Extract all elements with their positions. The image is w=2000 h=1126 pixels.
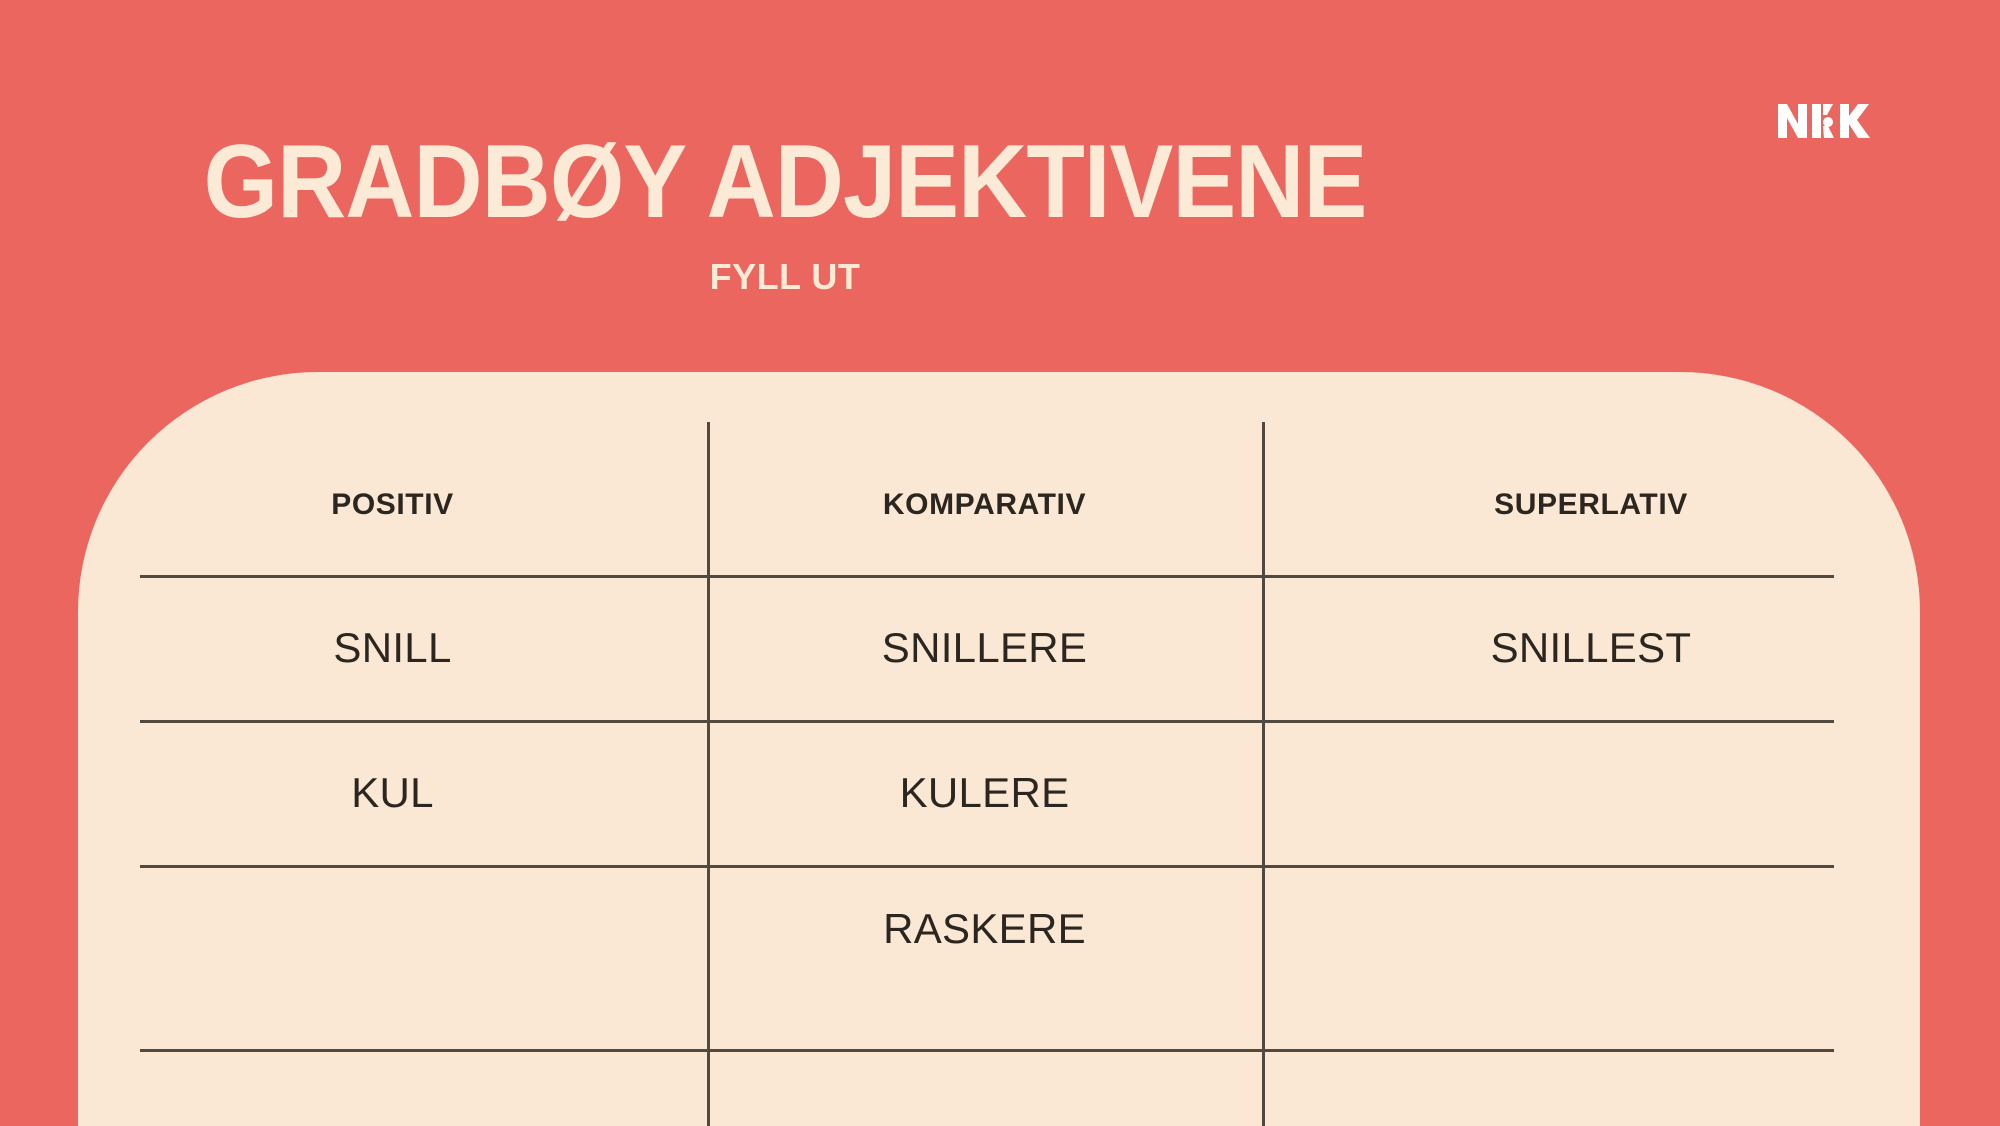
cell-positiv[interactable]: [78, 865, 707, 1049]
cell-value: RASKERE: [883, 905, 1086, 953]
cell-superlativ[interactable]: [1262, 865, 1920, 1049]
title-block: GRADBØY ADJEKTIVENE FYLL UT: [0, 130, 1570, 298]
column-header-label: SUPERLATIV: [1494, 488, 1688, 522]
column-header-superlativ: SUPERLATIV: [1262, 372, 1920, 575]
column-header-label: KOMPARATIV: [883, 488, 1086, 522]
column-header-label: POSITIV: [331, 488, 454, 522]
cell-value: SNILLEST: [1491, 624, 1692, 672]
cell-komparativ[interactable]: SNILLERE: [707, 575, 1262, 720]
cell-komparativ[interactable]: KULERE: [707, 720, 1262, 865]
cell-value: SNILL: [333, 624, 451, 672]
cell-positiv[interactable]: SNILL: [78, 575, 707, 720]
nrk-logo: [1778, 98, 1878, 138]
cell-positiv[interactable]: KUL: [78, 720, 707, 865]
column-header-positiv: POSITIV: [78, 372, 707, 575]
worksheet-page: GRADBØY ADJEKTIVENE FYLL UT POSITIV KOMP…: [0, 0, 2000, 1126]
worksheet-card: POSITIV KOMPARATIV SUPERLATIV SNILL: [78, 372, 1920, 1126]
page-subtitle: FYLL UT: [0, 256, 1570, 298]
cell-value: KULERE: [900, 769, 1070, 817]
table-row: KUL KULERE: [78, 720, 1920, 865]
cell-value: KUL: [351, 769, 434, 817]
conjugation-table: POSITIV KOMPARATIV SUPERLATIV SNILL: [78, 372, 1920, 1126]
cell-superlativ[interactable]: [1262, 720, 1920, 865]
page-title: GRADBØY ADJEKTIVENE: [63, 130, 1507, 234]
cell-superlativ[interactable]: SNILLEST: [1262, 575, 1920, 720]
column-header-komparativ: KOMPARATIV: [707, 372, 1262, 575]
cell-value: SNILLERE: [882, 624, 1088, 672]
table-header-row: POSITIV KOMPARATIV SUPERLATIV: [78, 372, 1920, 575]
table-row: RASKERE: [78, 865, 1920, 1049]
table-row: SNILL SNILLERE SNILLEST: [78, 575, 1920, 720]
cell-komparativ[interactable]: RASKERE: [707, 865, 1262, 1049]
row-divider-3: [140, 1049, 1834, 1052]
